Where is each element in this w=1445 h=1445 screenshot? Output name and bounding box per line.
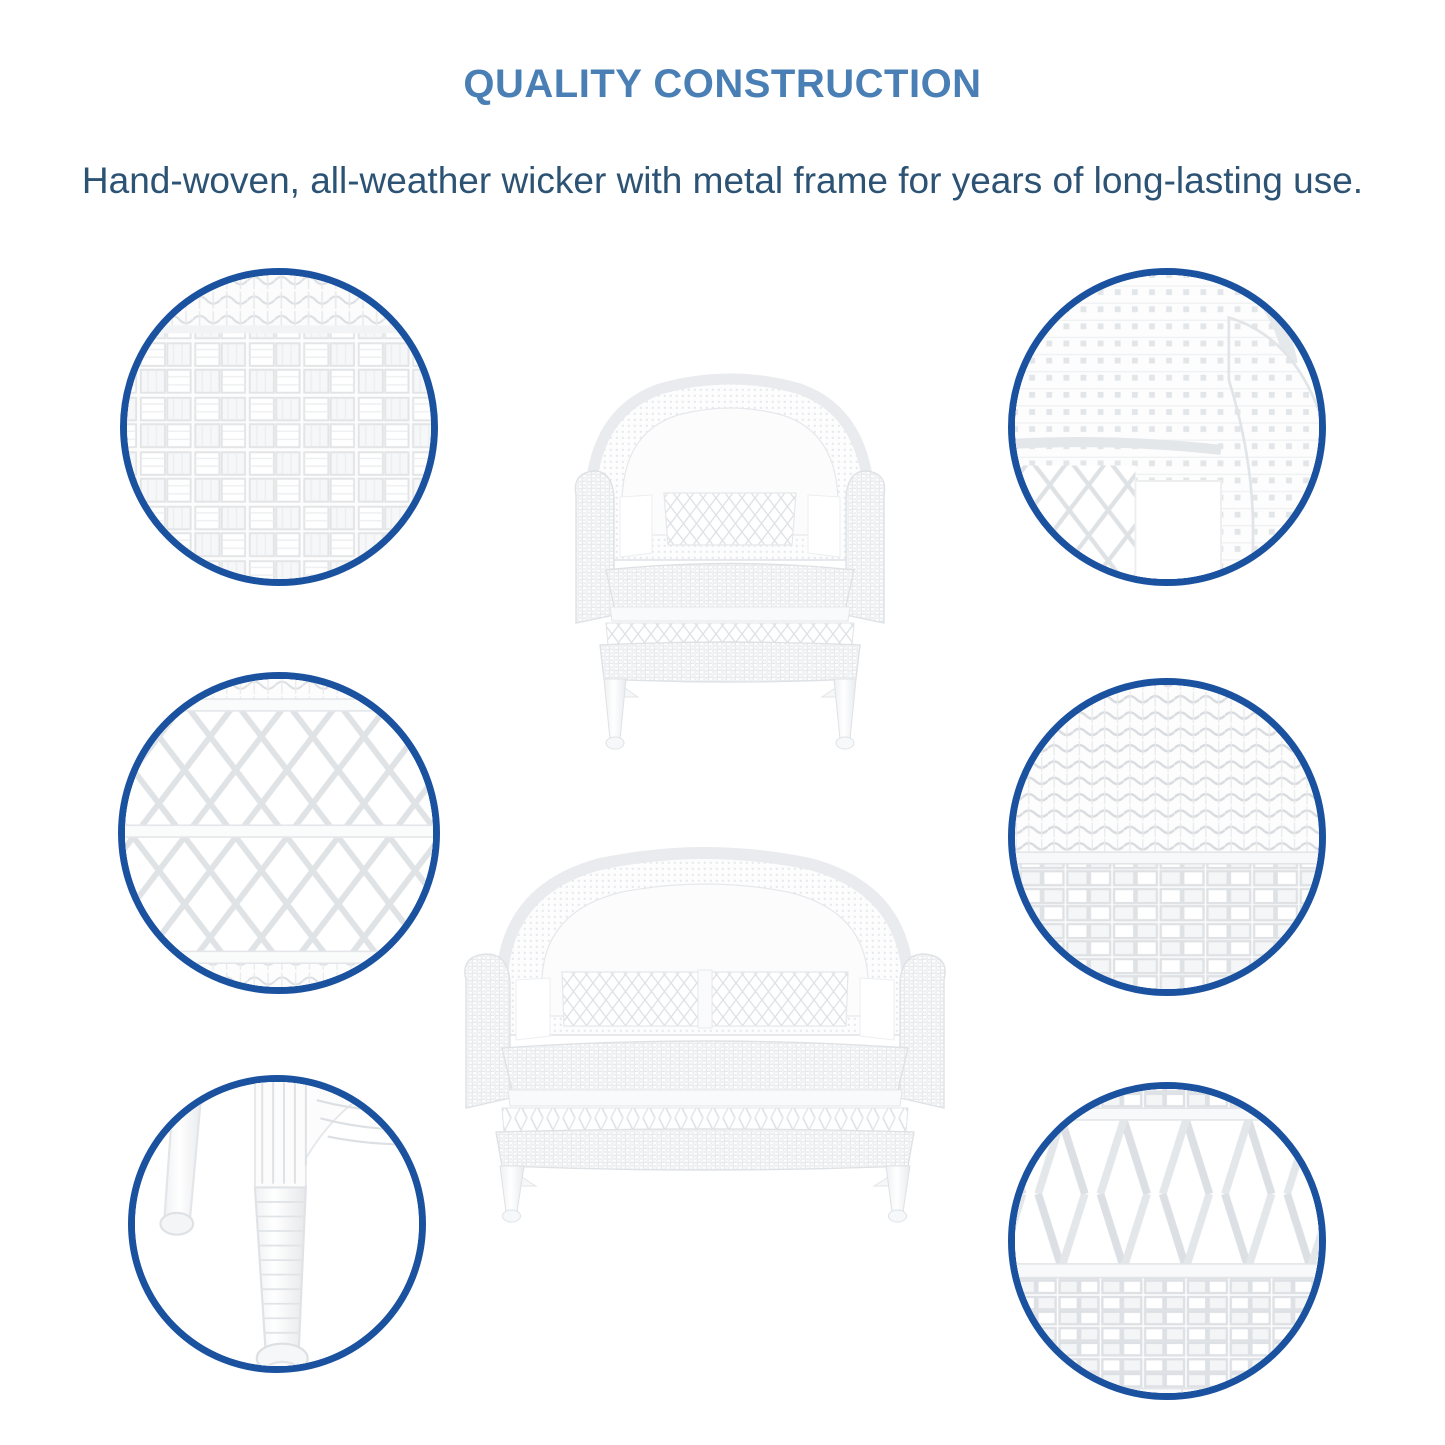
- wicker-loveseat-image: [450, 830, 960, 1230]
- back-corner-texture: [1008, 268, 1326, 586]
- callout-diamond-lattice-detail: [118, 672, 440, 994]
- basketweave-texture: [120, 268, 438, 586]
- callout-leg-detail: [128, 1075, 426, 1373]
- callout-back-corner-detail: [1008, 268, 1326, 586]
- callout-horizontal-weave-detail: [1008, 678, 1326, 996]
- x-lattice-texture: [1008, 1082, 1326, 1400]
- infographic-page: QUALITY CONSTRUCTION Hand-woven, all-wea…: [0, 0, 1445, 1445]
- armchair-illustration: [560, 345, 900, 760]
- diamond-lattice-texture: [118, 672, 440, 994]
- wicker-armchair-image: [560, 345, 900, 760]
- horizontal-weave-texture: [1008, 678, 1326, 996]
- loveseat-illustration: [450, 830, 960, 1230]
- page-subtitle: Hand-woven, all-weather wicker with meta…: [0, 160, 1445, 202]
- wrapped-leg-texture: [128, 1075, 426, 1373]
- callout-basketweave-detail: [120, 268, 438, 586]
- callout-x-lattice-detail: [1008, 1082, 1326, 1400]
- page-title: QUALITY CONSTRUCTION: [0, 62, 1445, 107]
